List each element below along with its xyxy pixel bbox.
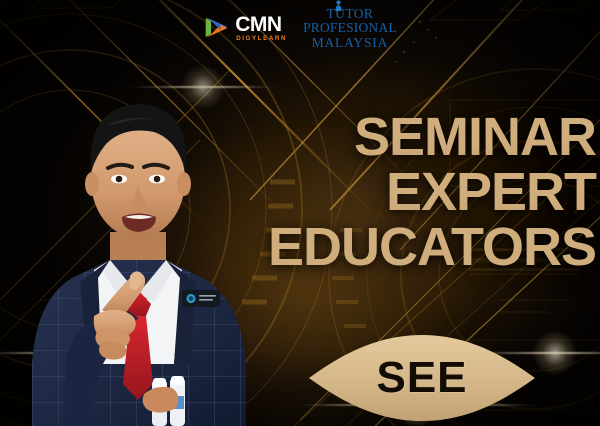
logo-bar: CMN DIGYLEARN TUTOR PROFESIONAL MALAYSIA [0, 0, 600, 56]
poster-canvas: CMN DIGYLEARN TUTOR PROFESIONAL MALAYSIA… [0, 0, 600, 426]
headline-line-3: EDUCATORS [268, 222, 596, 272]
cmn-logo: CMN DIGYLEARN [203, 14, 287, 43]
tutor-line-2: PROFESIONAL [303, 21, 397, 35]
headline-line-1: SEMINAR [268, 112, 596, 162]
cmn-logo-name: CMN [235, 14, 287, 35]
poster-headline: SEMINAR EXPERT EDUCATORS [268, 112, 596, 273]
person-figure-icon [333, 0, 344, 13]
tutor-line-3: MALAYSIA [312, 36, 388, 50]
presenter-name-badge [182, 290, 220, 307]
headline-line-2: EXPERT [268, 167, 596, 217]
tutor-profesional-malaysia-logo: TUTOR PROFESIONAL MALAYSIA [303, 7, 397, 50]
play-triangle-icon [203, 14, 230, 41]
see-badge: SEE [306, 332, 538, 424]
presenter-photo [6, 64, 270, 426]
cmn-logo-tagline: DIGYLEARN [235, 36, 287, 42]
see-badge-label: SEE [306, 332, 538, 424]
